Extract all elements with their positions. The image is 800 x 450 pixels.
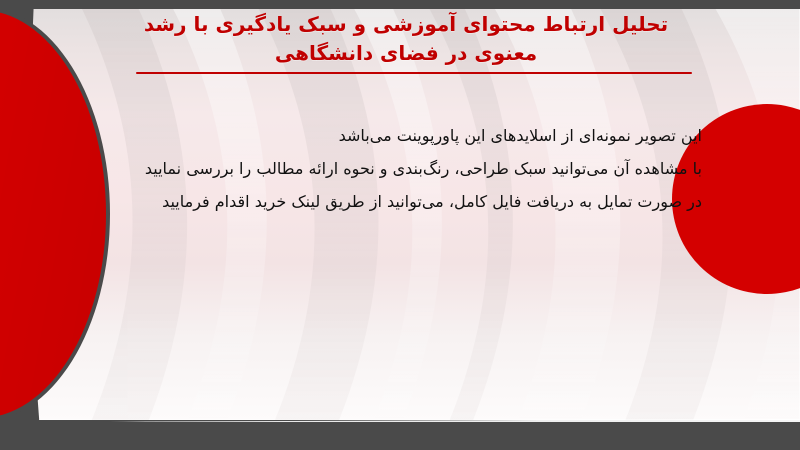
- slide-title-line-2: معنوی در فضای دانشگاهی: [120, 39, 692, 68]
- slide-body-block: این تصویر نمونه‌ای از اسلایدهای این پاور…: [82, 124, 702, 214]
- title-underline-rule: [136, 72, 692, 74]
- slide-bottom-band: [0, 420, 800, 450]
- slide-title-block: تحلیل ارتباط محتوای آموزشی و سبک یادگیری…: [120, 10, 692, 74]
- body-line-2: با مشاهده آن می‌توانید سبک طراحی، رنگ‌بن…: [82, 157, 702, 182]
- body-line-3: در صورت تمایل به دریافت فایل کامل، می‌تو…: [82, 190, 702, 215]
- body-line-1: این تصویر نمونه‌ای از اسلایدهای این پاور…: [82, 124, 702, 149]
- slide-title-line-1: تحلیل ارتباط محتوای آموزشی و سبک یادگیری…: [120, 10, 692, 39]
- slide-top-band: [0, 0, 800, 9]
- presentation-slide: تحلیل ارتباط محتوای آموزشی و سبک یادگیری…: [0, 0, 800, 450]
